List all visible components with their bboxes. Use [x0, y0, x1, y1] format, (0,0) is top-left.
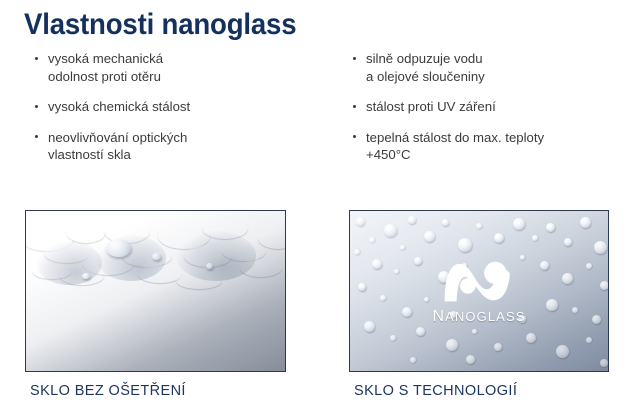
- glass-shading-overlay: [350, 211, 608, 371]
- list-item-line: tepelná stálost do max. teploty: [366, 129, 632, 147]
- slide-root: Vlastnosti nanoglass vysoká mechanická o…: [0, 0, 637, 412]
- treated-glass-image: NANOGLASS: [350, 211, 608, 371]
- list-item: silně odpuzuje vodu a olejové sloučeniny: [352, 50, 632, 85]
- bullet-dot-icon: [353, 57, 356, 60]
- list-item-line: vlastností skla: [48, 146, 324, 164]
- feature-list: vysoká mechanická odolnost proti otěru v…: [0, 50, 637, 190]
- glass-shading-overlay: [26, 211, 285, 371]
- caption-untreated-glass: SKLO BEZ OŠETŘENÍ: [30, 383, 186, 399]
- untreated-glass-image: [26, 211, 285, 371]
- list-item-line: neovlivňování optických: [48, 129, 324, 147]
- list-item-line: a olejové sloučeniny: [366, 68, 632, 86]
- bullet-dot-icon: [35, 105, 38, 108]
- image-panel-treated-glass: NANOGLASS: [349, 210, 609, 372]
- list-item-line: +450°C: [366, 146, 632, 164]
- bullet-dot-icon: [353, 105, 356, 108]
- list-item: tepelná stálost do max. teploty +450°C: [352, 129, 632, 164]
- list-item-line: odolnost proti otěru: [48, 68, 324, 86]
- page-title: Vlastnosti nanoglass: [24, 6, 296, 44]
- list-item: neovlivňování optických vlastností skla: [34, 129, 324, 164]
- list-item: stálost proti UV záření: [352, 98, 632, 116]
- list-item-line: stálost proti UV záření: [366, 98, 632, 116]
- bullet-dot-icon: [35, 135, 38, 138]
- bullet-dot-icon: [35, 57, 38, 60]
- list-item-line: silně odpuzuje vodu: [366, 50, 632, 68]
- list-item: vysoká chemická stálost: [34, 98, 324, 116]
- list-item-line: vysoká chemická stálost: [48, 98, 324, 116]
- feature-column-right: silně odpuzuje vodu a olejové sloučeniny…: [352, 50, 632, 177]
- list-item-line: vysoká mechanická: [48, 50, 324, 68]
- list-item: vysoká mechanická odolnost proti otěru: [34, 50, 324, 85]
- feature-column-left: vysoká mechanická odolnost proti otěru v…: [34, 50, 324, 177]
- image-panel-untreated-glass: [25, 210, 286, 372]
- caption-treated-glass: SKLO S TECHNOLOGIÍ: [354, 383, 517, 399]
- bullet-dot-icon: [353, 135, 356, 138]
